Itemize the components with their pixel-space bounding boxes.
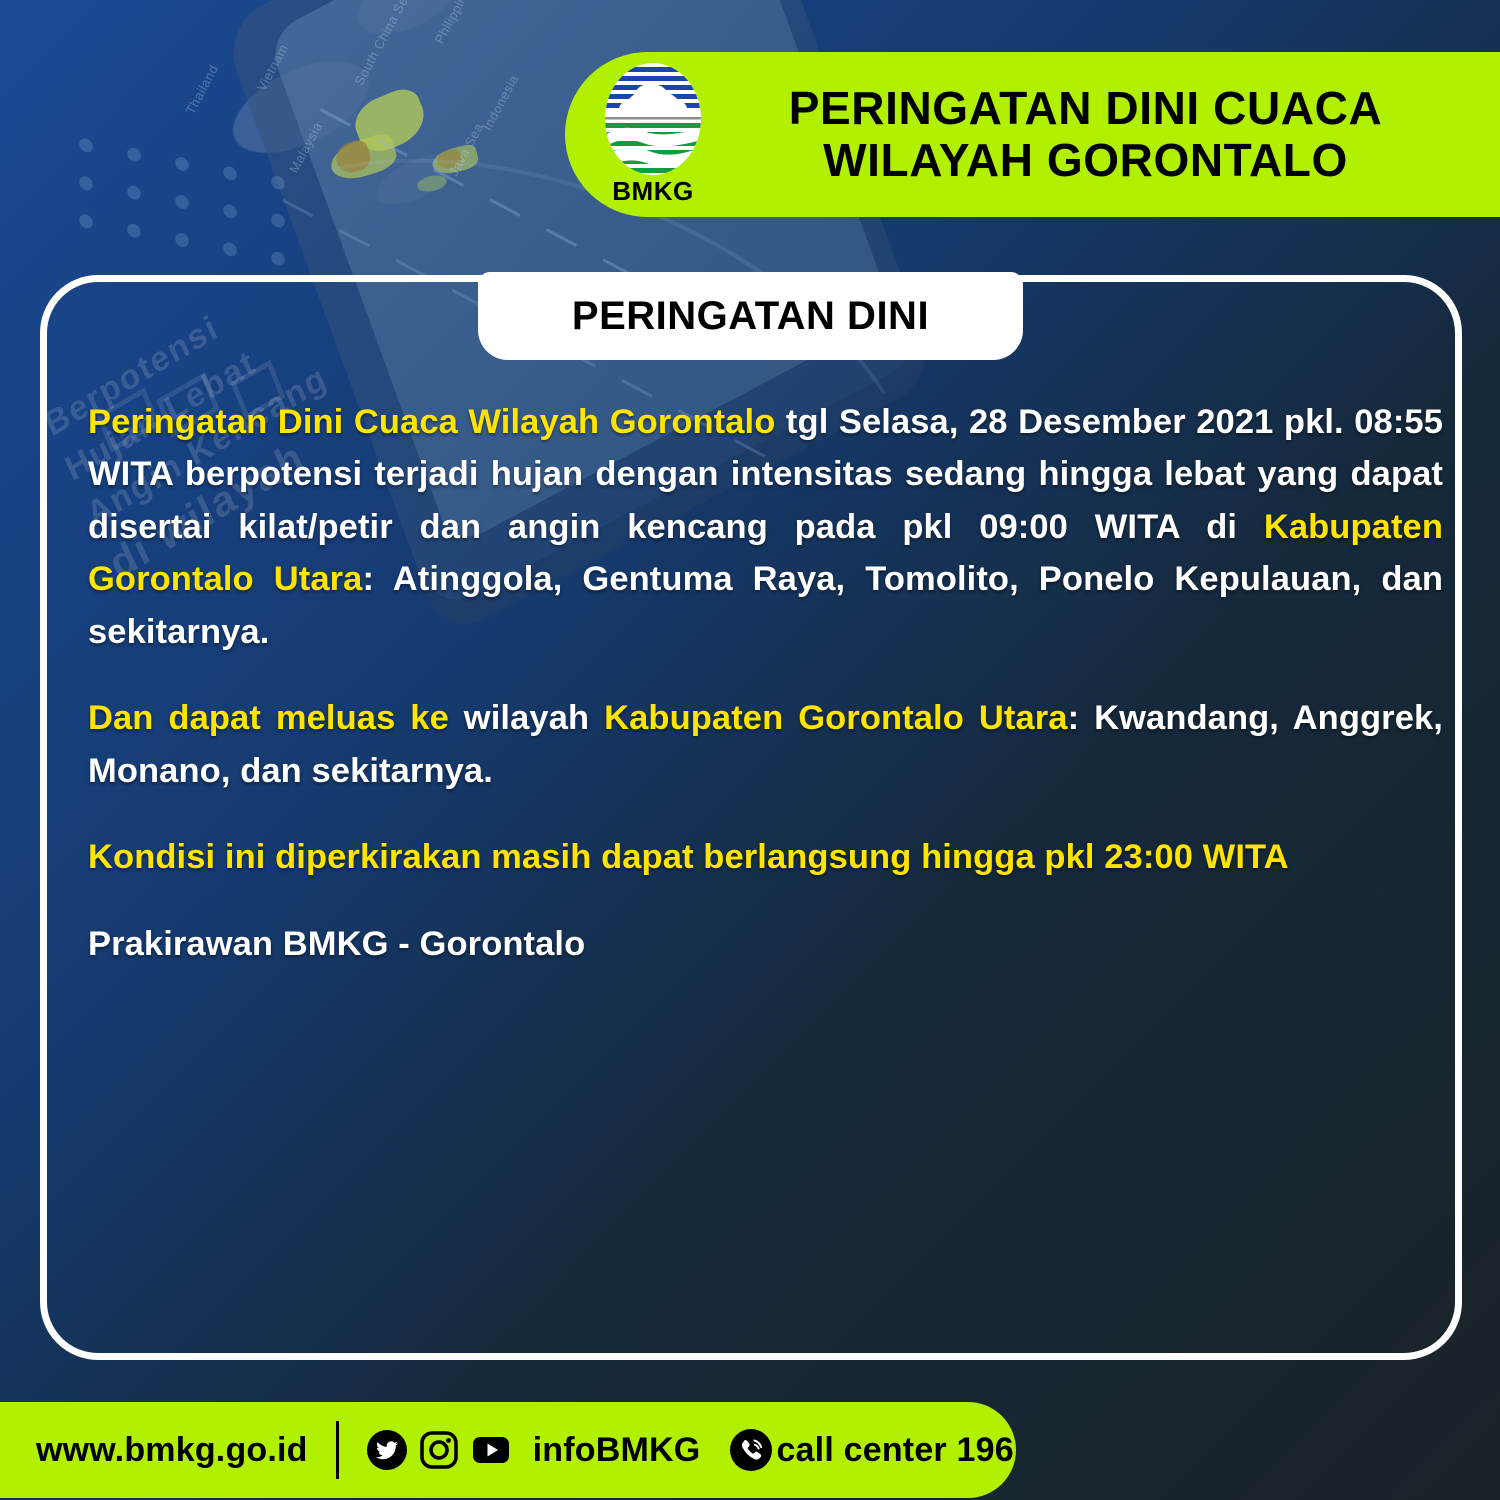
phone-call-icon[interactable] [730, 1429, 772, 1471]
signature: Prakirawan BMKG - Gorontalo [88, 918, 1443, 970]
status-badge: PERINGATAN DINI [478, 272, 1023, 360]
call-center-text: call center 196 [776, 1431, 1013, 1470]
bmkg-logo-icon [605, 63, 701, 175]
map-label-south-china-sea: South China Sea [351, 0, 414, 88]
paragraph-gap-3 [88, 884, 1443, 918]
instagram-icon[interactable] [419, 1430, 459, 1470]
footer-divider [336, 1421, 339, 1479]
paragraph-gap-2 [88, 797, 1443, 831]
map-label-vietnam: Vietnam [254, 41, 291, 93]
background-island-sulawesi [430, 143, 480, 177]
map-label-thailand: Thailand [183, 62, 222, 117]
poster-canvas: Thailand Vietnam South China Sea Philipp… [0, 0, 1500, 1500]
page-title-line-2: WILAYAH GORONTALO [713, 135, 1458, 187]
page-title: PERINGATAN DINI CUACA WILAYAH GORONTALO [713, 83, 1500, 186]
paragraph-2-highlight-2: Kabupaten Gorontalo Utara [604, 699, 1067, 737]
map-label-java-sea: Java Sea [446, 120, 487, 178]
paragraph-2: Dan dapat meluas ke wilayah Kabupaten Go… [88, 692, 1443, 797]
background-island-borneo [348, 84, 432, 158]
social-handle[interactable]: infoBMKG [533, 1431, 701, 1470]
background-dot-grid [62, 122, 302, 284]
header-banner: BMKG PERINGATAN DINI CUACA WILAYAH GORON… [565, 52, 1500, 217]
page-title-line-1: PERINGATAN DINI CUACA [713, 83, 1458, 135]
warning-message: Peringatan Dini Cuaca Wilayah Gorontalo … [88, 396, 1443, 970]
background-island-java-shade [332, 137, 374, 176]
paragraph-1: Peringatan Dini Cuaca Wilayah Gorontalo … [88, 396, 1443, 658]
background-island-java [326, 131, 400, 186]
paragraph-3: Kondisi ini diperkirakan masih dapat ber… [88, 831, 1443, 883]
bmkg-logo-text: BMKG [612, 176, 693, 207]
paragraph-2-body: wilayah [449, 699, 604, 737]
map-label-indonesia: Indonesia [480, 72, 522, 133]
map-label-malaysia: Malaysia [286, 120, 325, 176]
footer-bar: www.bmkg.go.id infoBMKG [0, 1402, 1016, 1498]
website-url[interactable]: www.bmkg.go.id [36, 1431, 308, 1470]
paragraph-gap-1 [88, 658, 1443, 692]
youtube-icon[interactable] [471, 1430, 511, 1470]
map-label-philippines: Philippines [432, 0, 477, 46]
paragraph-1-highlight-1: Peringatan Dini Cuaca Wilayah Gorontalo [88, 403, 775, 441]
background-island-sulawesi-shade [435, 147, 463, 170]
twitter-icon[interactable] [367, 1430, 407, 1470]
paragraph-2-highlight-1: Dan dapat meluas ke [88, 699, 449, 737]
bmkg-logo: BMKG [593, 63, 713, 207]
background-island-small [416, 173, 448, 194]
